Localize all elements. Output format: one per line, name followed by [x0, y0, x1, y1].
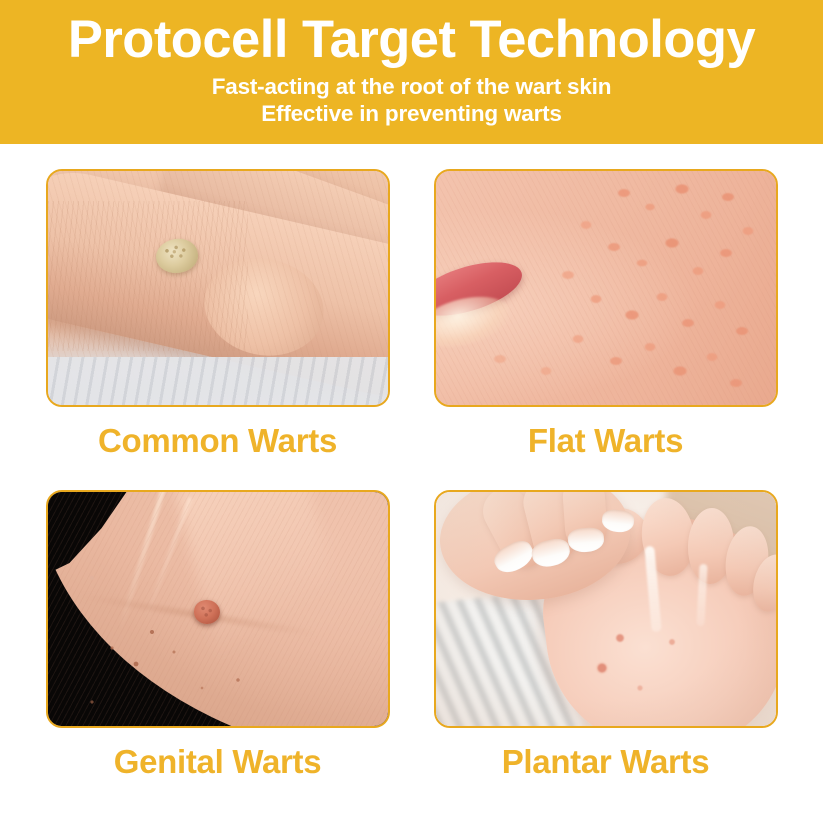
card-caption: Flat Warts — [528, 421, 683, 461]
wart-lesion — [194, 600, 220, 624]
background-surface — [48, 357, 388, 405]
card-caption: Genital Warts — [114, 742, 322, 782]
face-cheek-flat-warts-photo — [436, 171, 776, 405]
header-banner: Protocell Target Technology Fast-acting … — [0, 0, 823, 144]
card-plantar-warts[interactable]: Plantar Warts — [434, 490, 778, 810]
subtitle-line-1: Fast-acting at the root of the wart skin — [0, 73, 823, 100]
neck-skin-wart-photo — [48, 492, 388, 726]
card-caption: Plantar Warts — [502, 742, 710, 782]
card-image-frame — [434, 169, 778, 407]
grid-row-2: Genital Warts — [0, 490, 823, 810]
card-image-frame — [434, 490, 778, 728]
skin-texture-secondary — [48, 201, 248, 351]
hand-knuckle-wart-photo — [48, 171, 388, 405]
card-flat-warts[interactable]: Flat Warts — [434, 169, 778, 489]
wart-type-grid: Common Warts Flat Warts — [0, 144, 823, 823]
infographic-page: Protocell Target Technology Fast-acting … — [0, 0, 823, 823]
card-genital-warts[interactable]: Genital Warts — [46, 490, 390, 810]
card-common-warts[interactable]: Common Warts — [46, 169, 390, 489]
card-image-frame — [46, 490, 390, 728]
photo-vignette — [436, 492, 776, 726]
card-image-frame — [46, 169, 390, 407]
grid-row-1: Common Warts Flat Warts — [0, 169, 823, 489]
card-caption: Common Warts — [98, 421, 337, 461]
page-title: Protocell Target Technology — [4, 10, 819, 70]
subtitle-line-2: Effective in preventing warts — [0, 100, 823, 127]
foot-sole-plantar-warts-photo — [436, 492, 776, 726]
